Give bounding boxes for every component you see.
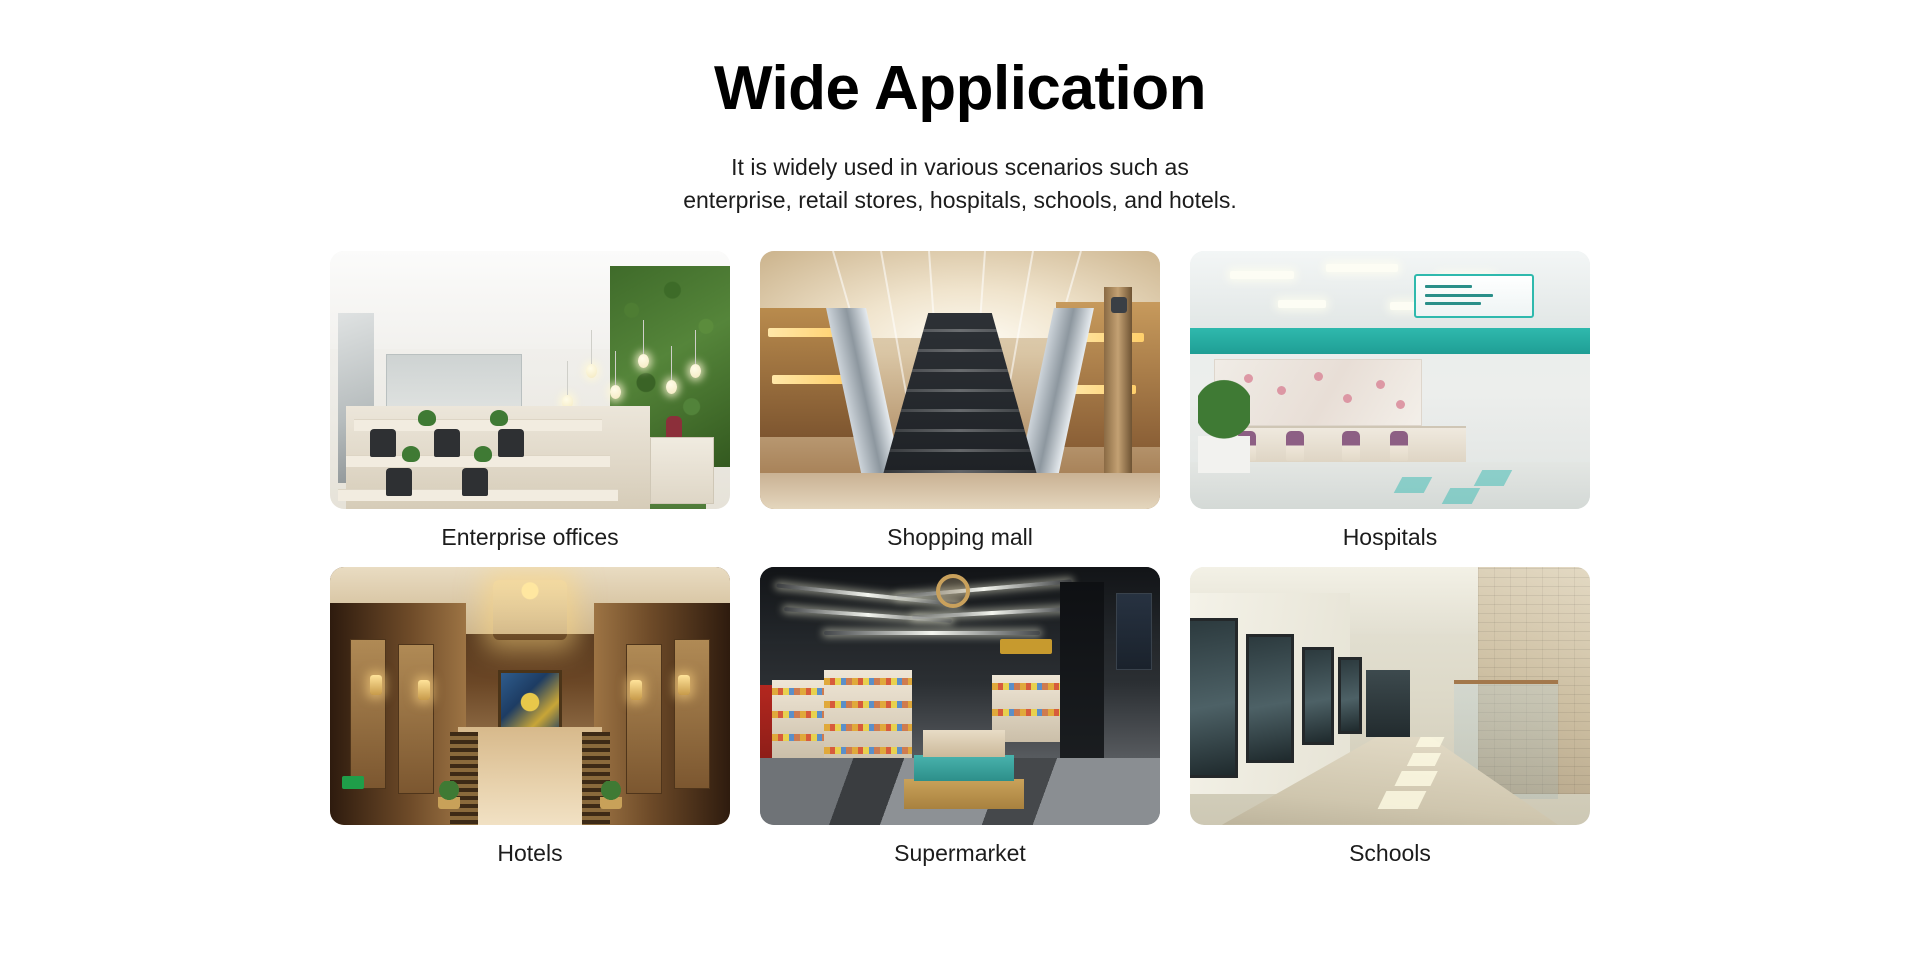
shopping-mall-image[interactable] xyxy=(760,251,1160,509)
supermarket-image[interactable] xyxy=(760,567,1160,825)
hospitals-image[interactable] xyxy=(1190,251,1590,509)
gallery-card-supermarket[interactable]: Supermarket xyxy=(760,567,1160,875)
subtitle-line-2: enterprise, retail stores, hospitals, sc… xyxy=(0,184,1920,217)
gallery-caption-hotels: Hotels xyxy=(497,839,562,875)
gallery-caption-shopping-mall: Shopping mall xyxy=(887,523,1033,559)
schools-image[interactable] xyxy=(1190,567,1590,825)
gallery-card-hotels[interactable]: Hotels xyxy=(330,567,730,875)
gallery-caption-hospitals: Hospitals xyxy=(1343,523,1438,559)
gallery-caption-schools: Schools xyxy=(1349,839,1431,875)
hotels-image[interactable] xyxy=(330,567,730,825)
application-gallery-grid: Enterprise offices xyxy=(330,251,1590,875)
gallery-card-hospitals[interactable]: Hospitals xyxy=(1190,251,1590,559)
gallery-caption-enterprise-offices: Enterprise offices xyxy=(441,523,618,559)
gallery-card-schools[interactable]: Schools xyxy=(1190,567,1590,875)
subtitle-line-1: It is widely used in various scenarios s… xyxy=(0,151,1920,184)
gallery-caption-supermarket: Supermarket xyxy=(894,839,1026,875)
page-title: Wide Application xyxy=(0,54,1920,123)
gallery-card-shopping-mall[interactable]: Shopping mall xyxy=(760,251,1160,559)
page-header: Wide Application It is widely used in va… xyxy=(0,0,1920,217)
wide-application-page: Wide Application It is widely used in va… xyxy=(0,0,1920,979)
enterprise-offices-image[interactable] xyxy=(330,251,730,509)
gallery-card-enterprise-offices[interactable]: Enterprise offices xyxy=(330,251,730,559)
page-subtitle: It is widely used in various scenarios s… xyxy=(0,151,1920,216)
